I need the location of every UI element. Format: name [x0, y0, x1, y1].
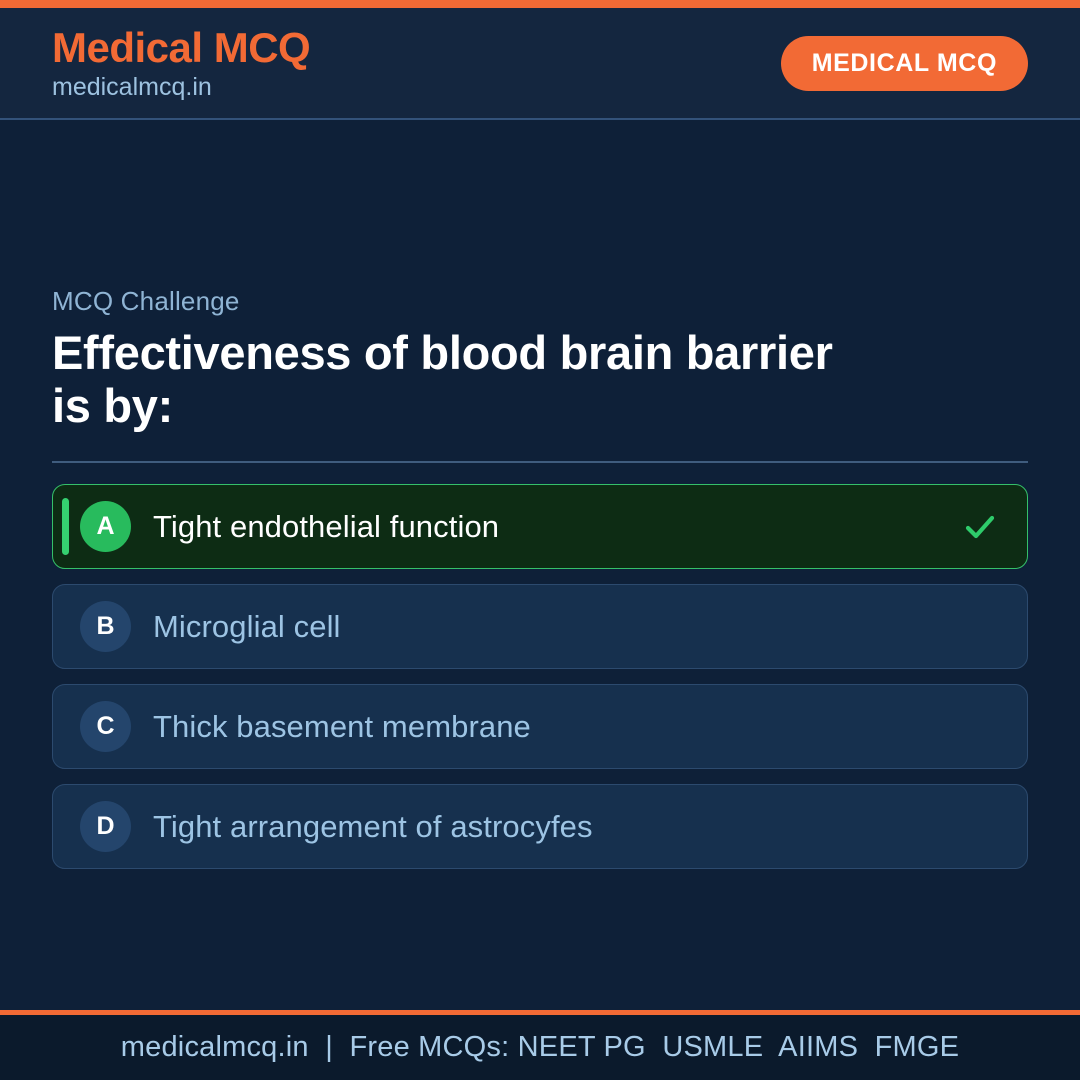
option-letter-badge-a: A	[80, 501, 131, 552]
mcq-poster: Medical MCQ medicalmcq.in MEDICAL MCQ MC…	[0, 0, 1080, 1080]
option-label-b: Microglial cell	[153, 609, 999, 645]
option-row-a[interactable]: A Tight endothelial function	[52, 484, 1028, 569]
correct-accent-bar	[62, 498, 69, 555]
option-letter-badge-b: B	[80, 601, 131, 652]
eyebrow-label: MCQ Challenge	[52, 286, 1028, 317]
options-list: A Tight endothelial function B Microglia…	[52, 484, 1028, 869]
option-letter-badge-c: C	[80, 701, 131, 752]
top-spacer	[52, 120, 1028, 286]
option-row-c[interactable]: C Thick basement membrane	[52, 684, 1028, 769]
header-badge: MEDICAL MCQ	[781, 36, 1028, 91]
option-row-d[interactable]: D Tight arrangement of astrocyfes	[52, 784, 1028, 869]
brand-title: Medical MCQ	[52, 27, 310, 69]
option-label-a: Tight endothelial function	[153, 509, 961, 545]
brand: Medical MCQ medicalmcq.in	[52, 27, 310, 100]
check-icon	[961, 508, 999, 546]
option-label-c: Thick basement membrane	[153, 709, 999, 745]
footer-text: medicalmcq.in | Free MCQs: NEET PG USMLE…	[121, 1031, 959, 1064]
page-footer: medicalmcq.in | Free MCQs: NEET PG USMLE…	[0, 1010, 1080, 1080]
section-divider	[52, 461, 1028, 463]
option-row-b[interactable]: B Microglial cell	[52, 584, 1028, 669]
option-label-d: Tight arrangement of astrocyfes	[153, 809, 999, 845]
top-accent-bar	[0, 0, 1080, 8]
page-header: Medical MCQ medicalmcq.in MEDICAL MCQ	[0, 8, 1080, 120]
question-text: Effectiveness of blood brain barrier is …	[52, 327, 882, 432]
main-content: MCQ Challenge Effectiveness of blood bra…	[0, 120, 1080, 1010]
brand-subtitle: medicalmcq.in	[52, 75, 310, 100]
option-letter-badge-d: D	[80, 801, 131, 852]
